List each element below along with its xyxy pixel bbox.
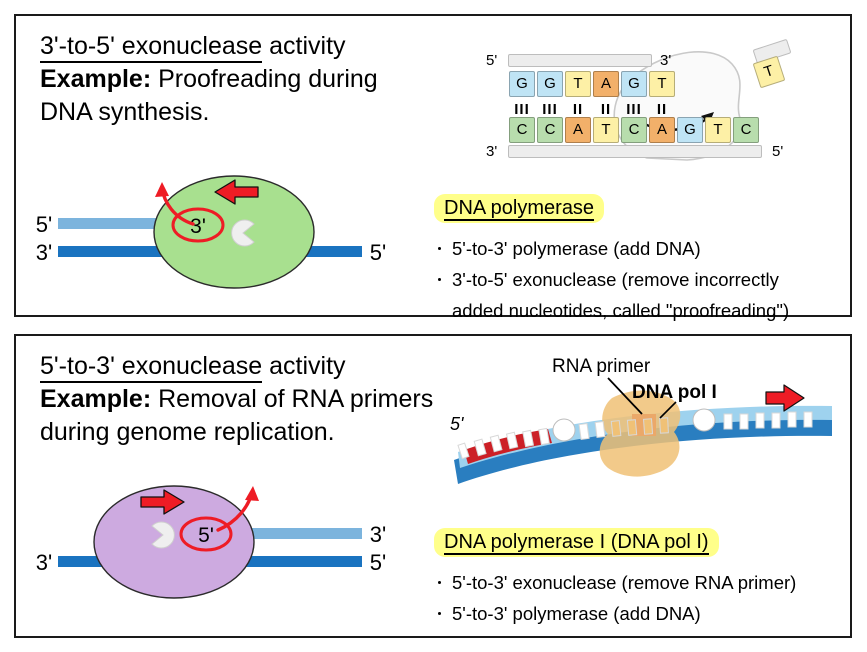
base-bottom-4: C <box>621 117 647 143</box>
base-top-5: T <box>649 71 675 97</box>
base-bottom-3: T <box>593 117 619 143</box>
bottom-example-text: Removal of RNA primers <box>151 385 433 413</box>
top-heading-rest: activity <box>262 32 345 60</box>
bottom-panel-heading: 5'-to-3' exonuclease activity Example: R… <box>40 350 440 449</box>
bottom-example-line: Example: Removal of RNA primers <box>40 383 440 416</box>
base-bottom-2: A <box>565 117 591 143</box>
base-bottom-5: A <box>649 117 675 143</box>
removal-arrow-head <box>155 182 169 197</box>
top-example-label: Example: <box>40 65 151 93</box>
primer-label-5prime: 5' <box>450 414 464 434</box>
schematic-5to3-exonuclease: 5' 3' 3' 5' <box>22 458 422 608</box>
legend-title-dna-polymerase-i: DNA polymerase I (DNA pol I) <box>434 528 719 557</box>
bottom-heading-underlined: 5'-to-3' exonuclease <box>40 352 262 383</box>
legend-item-1-cont: added nucleotides, called "proofreading"… <box>452 295 849 326</box>
base-top-4: G <box>621 71 647 97</box>
bead-right <box>693 409 715 431</box>
base-bottom-8: C <box>733 117 759 143</box>
bottom-heading-line: 5'-to-3' exonuclease activity <box>40 350 440 383</box>
label-3prime-bottom-left: 3' <box>36 240 52 265</box>
panel-5to3-exonuclease: 5'-to-3' exonuclease activity Example: R… <box>14 334 852 638</box>
dna-ladder-diagram: 5' 3' G G T A G T III III II II III II C… <box>482 42 852 162</box>
hbond-1: III <box>537 102 563 117</box>
base-bottom-7: T <box>705 117 731 143</box>
hbond-0: III <box>509 102 535 117</box>
label-5prime-top-left: 5' <box>36 212 52 237</box>
label-3prime-top-right: 3' <box>370 522 386 547</box>
highlight-label-5prime: 5' <box>198 524 214 547</box>
hbond-3: II <box>593 102 619 117</box>
label-5prime-bottom-right: 5' <box>370 240 386 265</box>
ejected-nucleotide: T <box>744 44 800 96</box>
bottom-example-text2: during genome replication. <box>40 416 440 449</box>
base-bottom-6: G <box>677 117 703 143</box>
hbond-2: II <box>565 102 591 117</box>
dna-label-5prime-bottom-right: 5' <box>772 144 783 159</box>
base-bottom-0: C <box>509 117 535 143</box>
schematic-3to5-exonuclease: 3' 5' 3' 5' <box>22 156 422 301</box>
top-example-text2: DNA synthesis. <box>40 96 440 129</box>
bottom-example-label: Example: <box>40 385 151 413</box>
top-example-line: Example: Proofreading during <box>40 63 440 96</box>
rna-primer-removal-illustration: 5' RNA primer DNA pol I <box>436 356 846 516</box>
legend-item-1: 5'-to-3' polymerase (add DNA) <box>434 598 849 629</box>
legend-list-top: 5'-to-3' polymerase (add DNA) 3'-to-5' e… <box>434 233 849 326</box>
label-dna-pol-i: DNA pol I <box>632 382 717 404</box>
legend-list-bottom: 5'-to-3' exonuclease (remove RNA primer)… <box>434 567 849 629</box>
legend-dna-polymerase: DNA polymerase 5'-to-3' polymerase (add … <box>434 194 849 326</box>
label-5prime-bottom-right: 5' <box>370 550 386 575</box>
legend-dna-polymerase-i: DNA polymerase I (DNA pol I) 5'-to-3' ex… <box>434 528 849 629</box>
removal-arrow-head <box>245 486 259 501</box>
backbone-top <box>508 54 652 67</box>
label-rna-primer: RNA primer <box>552 356 650 378</box>
panel-3to5-exonuclease: 3'-to-5' exonuclease activity Example: P… <box>14 14 852 317</box>
base-top-2: T <box>565 71 591 97</box>
legend-item-0: 5'-to-3' exonuclease (remove RNA primer) <box>434 567 849 598</box>
base-top-3: A <box>593 71 619 97</box>
bottom-heading-rest: activity <box>262 352 345 380</box>
hbond-5: II <box>649 102 675 117</box>
label-3prime-bottom-left: 3' <box>36 550 52 575</box>
top-panel-heading: 3'-to-5' exonuclease activity Example: P… <box>40 30 440 129</box>
dna-label-3prime-bottom-left: 3' <box>486 144 497 159</box>
base-top-0: G <box>509 71 535 97</box>
top-heading-underlined: 3'-to-5' exonuclease <box>40 32 262 63</box>
legend-item-1: 3'-to-5' exonuclease (remove incorrectly… <box>434 264 849 326</box>
dna-label-3prime-top-right: 3' <box>660 53 671 68</box>
backbone-bottom <box>508 145 762 158</box>
highlight-label-3prime: 3' <box>190 215 206 238</box>
dna-label-5prime-top-left: 5' <box>486 53 497 68</box>
legend-item-0: 5'-to-3' polymerase (add DNA) <box>434 233 849 264</box>
top-example-text: Proofreading during <box>151 65 378 93</box>
top-heading-line: 3'-to-5' exonuclease activity <box>40 30 440 63</box>
hbond-4: III <box>621 102 647 117</box>
base-bottom-1: C <box>537 117 563 143</box>
bead-left <box>553 419 575 441</box>
legend-title-dna-polymerase: DNA polymerase <box>434 194 604 223</box>
base-top-1: G <box>537 71 563 97</box>
